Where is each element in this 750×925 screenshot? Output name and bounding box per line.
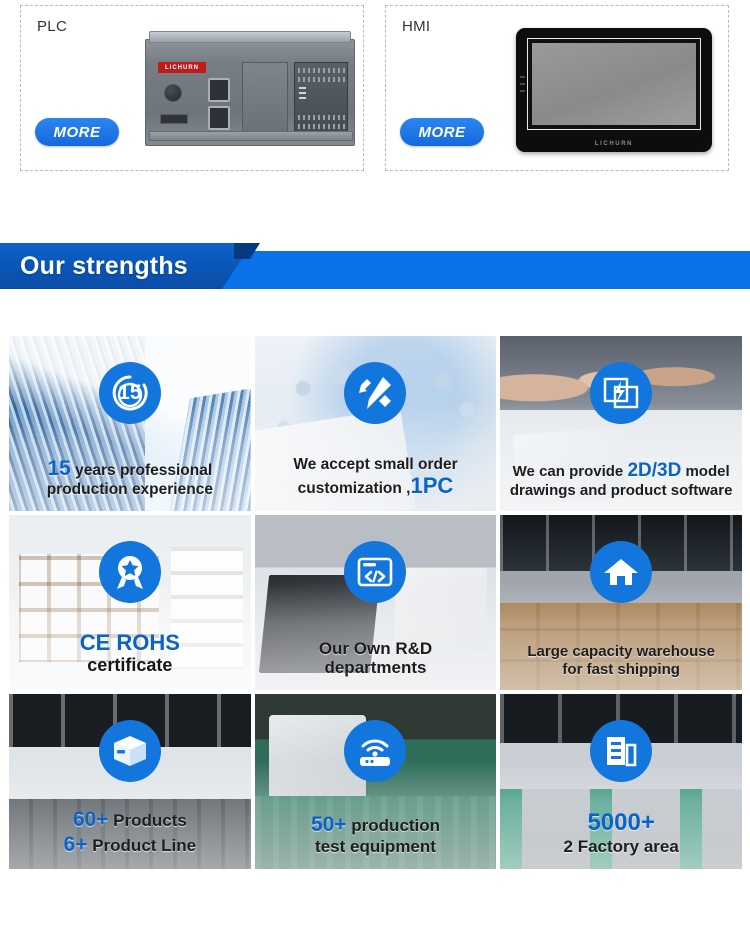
strength-cell-ce-rohs[interactable]: CE ROHS certificate — [9, 515, 251, 690]
caption-text-2: Product Line — [87, 836, 196, 855]
hmi-device-image: LICHURN — [516, 28, 712, 152]
caption-line2: 2 Factory area — [506, 837, 736, 857]
cell-caption: We accept small order customization ,1PC — [261, 456, 491, 499]
strength-cell-15-years[interactable]: 15 15 years professional production expe… — [9, 336, 251, 511]
strengths-grid: 15 15 years professional production expe… — [9, 336, 742, 869]
strength-cell-warehouse[interactable]: Large capacity warehouse for fast shippi… — [500, 515, 742, 690]
caption-highlight: 15 — [48, 457, 71, 480]
caption-line2: drawings and product software — [506, 482, 736, 499]
plc-terminal-block — [294, 62, 348, 134]
caption-line2: production experience — [15, 481, 245, 499]
product-card-hmi[interactable]: HMI LICHURN MORE — [385, 5, 729, 171]
cell-caption: 60+ Products 6+ Product Line — [15, 808, 245, 857]
strength-cell-rnd-department[interactable]: Our Own R&D departments — [255, 515, 497, 690]
building-factory-icon — [590, 720, 652, 782]
blueprint-model-icon — [590, 362, 652, 424]
page-root: PLC LICHURN — [0, 0, 750, 925]
plc-ethernet-port-2 — [208, 106, 230, 130]
caption-line2: departments — [261, 658, 491, 678]
section-title: Our strengths — [20, 243, 188, 289]
caption-line2: certificate — [15, 655, 245, 676]
section-banner: Our strengths — [0, 243, 750, 289]
code-window-icon — [344, 541, 406, 603]
plc-dial — [164, 84, 182, 102]
strength-cell-2d-3d-model[interactable]: We can provide 2D/3D model drawings and … — [500, 336, 742, 511]
router-signal-icon — [344, 720, 406, 782]
caption-text-1: Products — [108, 811, 186, 830]
pencil-edit-icon — [344, 362, 406, 424]
strength-cell-test-equipment[interactable]: 50+ production test equipment — [255, 694, 497, 869]
caption-highlight: 5000+ — [506, 809, 736, 837]
strength-cell-products-count[interactable]: 60+ Products 6+ Product Line — [9, 694, 251, 869]
caption-highlight-2: 6+ — [64, 833, 88, 856]
badge-number-15: 15 — [99, 381, 161, 405]
hmi-screen — [532, 43, 696, 125]
caption-highlight: 1PC — [411, 473, 454, 498]
cell-caption: 5000+ 2 Factory area — [506, 809, 736, 857]
cell-caption: We can provide 2D/3D model drawings and … — [506, 460, 736, 499]
caption-highlight: 50+ — [311, 813, 347, 836]
cell-caption: Our Own R&D departments — [261, 639, 491, 678]
caption-highlight-1: 60+ — [73, 808, 109, 831]
caption-line1: Our Own R&D — [261, 639, 491, 659]
caption-highlight: 2D/3D — [627, 460, 681, 481]
product-title-hmi: HMI — [402, 18, 430, 35]
caption-text: production — [347, 816, 440, 835]
caption-text: years professional — [71, 462, 212, 479]
cell-caption: 15 years professional production experie… — [15, 457, 245, 499]
strength-cell-factory-area[interactable]: 5000+ 2 Factory area — [500, 694, 742, 869]
cell-caption: CE ROHS certificate — [15, 630, 245, 676]
cell-caption: Large capacity warehouse for fast shippi… — [506, 643, 736, 678]
product-card-plc[interactable]: PLC LICHURN — [20, 5, 364, 171]
plc-brand-label: LICHURN — [158, 62, 206, 73]
hmi-side-buttons — [520, 76, 525, 97]
caption-line1: We accept small order — [261, 456, 491, 474]
product-cards-row: PLC LICHURN — [0, 0, 750, 178]
plc-ethernet-port-1 — [208, 78, 230, 102]
more-button-plc[interactable]: MORE — [35, 118, 119, 146]
strength-cell-small-order[interactable]: We accept small order customization ,1PC — [255, 336, 497, 511]
cell-caption: 50+ production test equipment — [261, 813, 491, 857]
caption-line1: Large capacity warehouse — [506, 643, 736, 660]
clock-15-icon: 15 — [99, 362, 161, 424]
caption-highlight: CE ROHS — [15, 630, 245, 656]
award-medal-icon — [99, 541, 161, 603]
caption-pre: We can provide — [513, 463, 628, 480]
caption-line2: test equipment — [261, 837, 491, 857]
plc-usb-port — [160, 114, 188, 124]
box-package-icon — [99, 720, 161, 782]
hmi-brand-label: LICHURN — [516, 141, 712, 147]
caption-line2: for fast shipping — [506, 661, 736, 678]
house-warehouse-icon — [590, 541, 652, 603]
caption-post: model — [681, 463, 729, 480]
plc-middle-panel — [242, 62, 288, 134]
more-button-hmi[interactable]: MORE — [400, 118, 484, 146]
product-title-plc: PLC — [37, 18, 67, 35]
caption-text: customization , — [298, 480, 411, 497]
plc-device-image: LICHURN — [145, 31, 355, 151]
